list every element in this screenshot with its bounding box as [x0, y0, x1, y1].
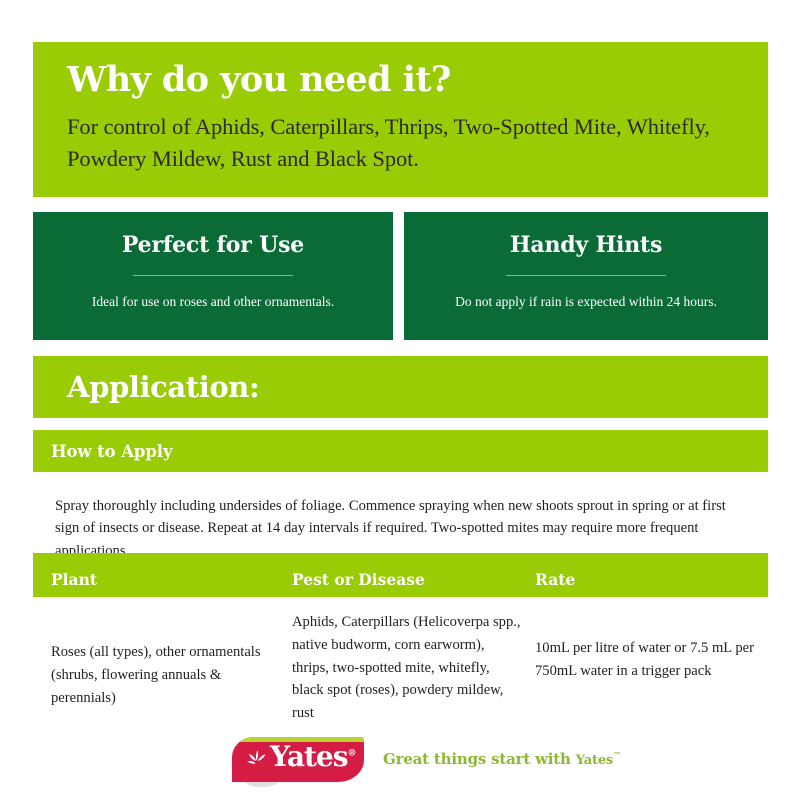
how-to-apply-label: How to Apply [51, 442, 172, 461]
table-row: Roses (all types), other ornamentals (sh… [33, 605, 768, 725]
panel-divider [506, 275, 666, 276]
table-cell-rate: 10mL per litre of water or 7.5 mL per 75… [535, 637, 760, 683]
logo-wordmark-text: Yates [270, 740, 347, 773]
hero-title: Why do you need it? [67, 62, 734, 97]
table-header-plant: Plant [51, 568, 286, 592]
handy-hints-title: Handy Hints [404, 232, 768, 258]
perfect-for-use-title: Perfect for Use [33, 232, 393, 258]
why-need-it-section: Why do you need it? For control of Aphid… [33, 42, 768, 197]
infographic-page: Why do you need it? For control of Aphid… [0, 0, 800, 800]
how-to-apply-bar: How to Apply [33, 430, 768, 472]
panel-divider [133, 275, 293, 276]
table-cell-plant: Roses (all types), other ornamentals (sh… [51, 641, 286, 709]
table-header-pest-or-disease: Pest or Disease [292, 568, 522, 592]
hero-body-text: For control of Aphids, Caterpillars, Thr… [67, 111, 734, 175]
tagline-main-text: Great things start with [383, 750, 576, 768]
table-header-row: Plant Pest or Disease Rate [33, 553, 768, 597]
tagline-brand-text: Yates [576, 753, 613, 768]
application-heading-bar: Application: [33, 356, 768, 418]
perfect-for-use-panel: Perfect for Use Ideal for use on roses a… [33, 212, 393, 340]
logo-wordmark: Yates® [270, 743, 356, 771]
table-header-rate: Rate [535, 568, 760, 592]
leaf-icon [246, 749, 268, 769]
registered-mark-icon: ® [347, 749, 356, 759]
perfect-for-use-body: Ideal for use on roses and other ornamen… [33, 292, 393, 312]
trademark-icon: ™ [613, 750, 621, 760]
brand-tagline: Great things start with Yates™ [383, 750, 621, 768]
footer: Yates® Great things start with Yates™ [0, 737, 800, 792]
handy-hints-body: Do not apply if rain is expected within … [404, 292, 768, 312]
application-heading: Application: [67, 370, 259, 404]
yates-logo: Yates® [232, 737, 364, 782]
table-cell-pest-or-disease: Aphids, Caterpillars (Helicoverpa spp., … [292, 611, 522, 725]
handy-hints-panel: Handy Hints Do not apply if rain is expe… [404, 212, 768, 340]
